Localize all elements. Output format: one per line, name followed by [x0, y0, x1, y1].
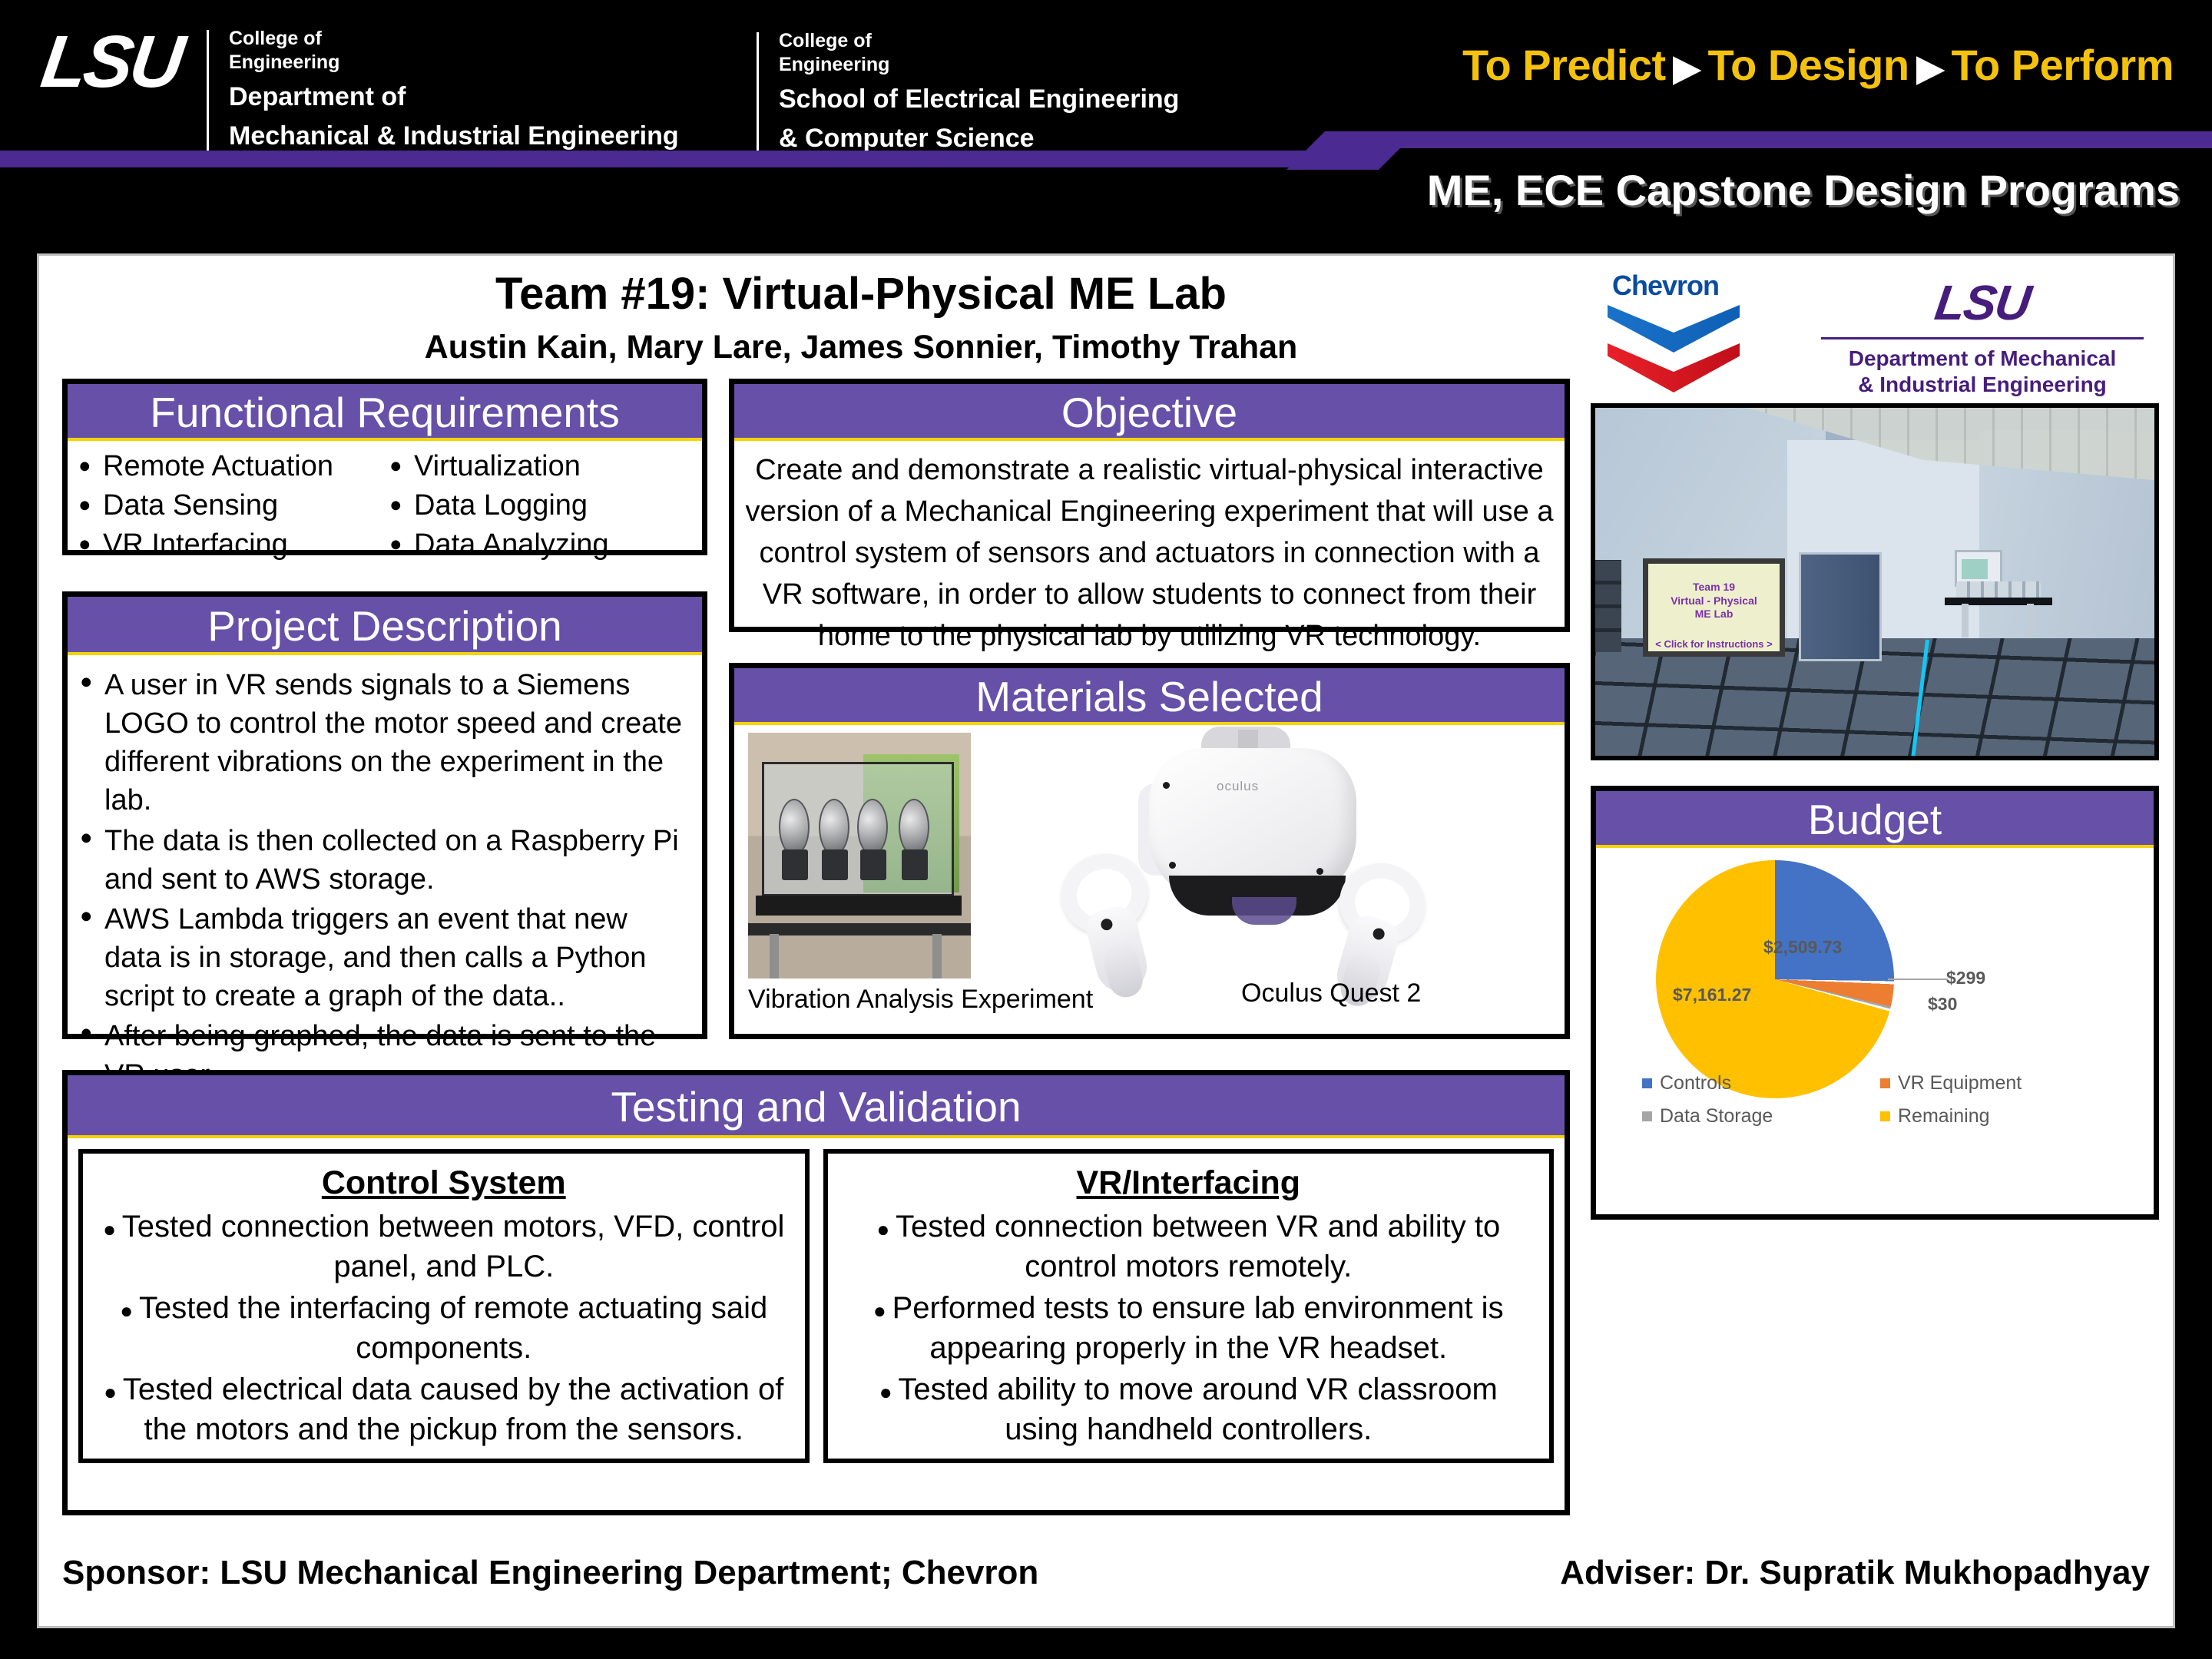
capstone-program-title: ME, ECE Capstone Design Programs — [1427, 165, 2180, 215]
oculus-quest-2-image: oculus — [1026, 725, 1456, 986]
poster-root: LSU College of Engineering Department of… — [0, 0, 2212, 1659]
materials-images-row: oculus — [734, 725, 1565, 1040]
legend-swatch-vr-equipment — [1880, 1078, 1890, 1088]
legend-swatch-controls — [1642, 1078, 1652, 1088]
pie-label-vr-equipment: $299 — [1946, 968, 1985, 988]
list-item: The data is then collected on a Raspberr… — [75, 822, 691, 899]
vibration-experiment-photo — [748, 733, 971, 979]
project-description-list: A user in VR sends signals to a Siemens … — [68, 655, 702, 1094]
budget-box: Budget $2,509.73 $7,161.27 $299 $30 Cont… — [1591, 786, 2159, 1220]
list-item: Tested ability to move around VR classro… — [840, 1369, 1538, 1449]
ece-college-line2: Engineering — [779, 53, 1179, 77]
author-list: Austin Kain, Mary Lare, James Sonnier, T… — [131, 329, 1591, 366]
vr-bench-leg — [2027, 604, 2034, 637]
chevron-logo: Chevron — [1604, 270, 1743, 392]
me-college-line2: Engineering — [229, 51, 679, 75]
ece-college-text: College of Engineering School of Electri… — [779, 29, 1179, 155]
rotor-disc — [899, 799, 929, 856]
objective-text: Create and demonstrate a realistic virtu… — [734, 441, 1565, 657]
functional-requirements-left-list: Remote Actuation Data Sensing VR Interfa… — [74, 450, 385, 568]
legend-item-vr-equipment: VR Equipment — [1880, 1072, 2118, 1094]
materials-selected-box: Materials Selected — [729, 663, 1570, 1039]
list-item: Data Sensing — [74, 489, 385, 522]
list-item: AWS Lambda triggers an event that new da… — [75, 900, 691, 1015]
ece-divider-rule — [757, 32, 759, 155]
objective-box: Objective Create and demonstrate a reali… — [729, 379, 1570, 632]
vr-control-panel-screen — [1962, 559, 1988, 579]
headset-camera-icon — [1163, 782, 1170, 789]
lsu-logo-rule — [1821, 337, 2144, 339]
lsu-ece-logo-lockup: College of Engineering School of Electri… — [757, 29, 1179, 155]
legend-swatch-remaining — [1880, 1111, 1890, 1121]
vr-screen-title: Team 19 Virtual - Physical ME Lab — [1648, 581, 1780, 621]
functional-requirements-columns: Remote Actuation Data Sensing VR Interfa… — [68, 441, 702, 568]
legend-item-controls: Controls — [1642, 1072, 1880, 1094]
bearing-block — [860, 849, 886, 880]
chevron-blue-chevron-icon — [1608, 305, 1740, 353]
ece-dept-line1: School of Electrical Engineering — [779, 84, 1179, 115]
rotor-disc — [819, 799, 849, 856]
rotor-disc — [857, 799, 888, 856]
vr-interfacing-list: Tested connection between VR and ability… — [840, 1207, 1538, 1449]
budget-heading: Budget — [1596, 791, 2154, 848]
vr-bench-top — [1945, 598, 2052, 605]
legend-swatch-data-storage — [1642, 1111, 1652, 1121]
vr-shelf — [1595, 560, 1621, 652]
list-item: Virtualization — [385, 450, 696, 483]
pie-label-controls: $2,509.73 — [1763, 937, 1842, 958]
bench-leg — [770, 934, 779, 979]
bench-leg — [932, 934, 942, 979]
me-dept-line1: Department of — [229, 81, 679, 113]
list-item: VR Interfacing — [74, 528, 385, 561]
lsu-purple-wordmark: LSU — [1932, 274, 2033, 331]
lsu-dept-line2: & Industrial Engineering — [1821, 372, 2144, 398]
pie-chart-graphic — [1656, 860, 1894, 1098]
list-item: Tested connection between motors, VFD, c… — [95, 1207, 793, 1286]
legend-label-data-storage: Data Storage — [1660, 1105, 1773, 1128]
budget-pie-chart: $2,509.73 $7,161.27 $299 $30 Controls VR… — [1596, 848, 2154, 1124]
list-item: Tested connection between VR and ability… — [840, 1207, 1538, 1286]
vr-lab-screenshot: Team 19 Virtual - Physical ME Lab < Clic… — [1591, 403, 2159, 760]
me-dept-line2: Mechanical & Industrial Engineering — [229, 121, 679, 152]
legend-label-vr-equipment: VR Equipment — [1898, 1072, 2022, 1094]
sponsor-logos: Chevron LSU Department of Mechanical & I… — [1591, 263, 2159, 398]
headset-camera-icon — [1169, 862, 1176, 869]
vr-prev-arrow-icon[interactable]: < — [1655, 638, 1661, 650]
legend-item-remaining: Remaining — [1880, 1105, 2118, 1128]
caption-oculus-quest: Oculus Quest 2 — [1241, 979, 1421, 1008]
vr-screen-line2: Virtual - Physical — [1648, 594, 1780, 608]
functional-requirements-heading: Functional Requirements — [68, 384, 702, 441]
logo-divider-rule — [207, 30, 209, 153]
objective-heading: Objective — [734, 384, 1565, 441]
legend-label-controls: Controls — [1660, 1072, 1731, 1094]
sponsor-footer: Sponsor: LSU Mechanical Engineering Depa… — [62, 1554, 1038, 1592]
vr-bench-leg — [1962, 604, 1969, 637]
list-item: Data Analyzing — [385, 528, 696, 561]
poster-body-panel: Team #19: Virtual-Physical ME Lab Austin… — [37, 253, 2175, 1628]
list-item: Performed tests to ensure lab environmen… — [840, 1288, 1538, 1368]
materials-selected-heading: Materials Selected — [734, 668, 1565, 725]
headset-camera-icon — [1316, 868, 1323, 875]
oculus-brand-label: oculus — [1217, 779, 1259, 794]
lsu-dept-line1: Department of Mechanical — [1821, 346, 2144, 372]
headset-nosepad — [1232, 897, 1296, 925]
control-system-subbox: Control System Tested connection between… — [78, 1149, 810, 1463]
accent-bar-left — [0, 151, 1340, 167]
accent-bar-right — [1352, 131, 2212, 148]
base-rail — [756, 896, 962, 916]
vr-instructions-label[interactable]: Click for Instructions — [1664, 638, 1763, 650]
tagline-design: To Design — [1708, 41, 1909, 89]
caption-vibration-experiment: Vibration Analysis Experiment — [748, 985, 1093, 1015]
vr-door — [1799, 552, 1882, 661]
me-college-line1: College of — [229, 27, 679, 51]
page-title: Team #19: Virtual-Physical ME Lab — [131, 268, 1591, 320]
vr-screen-line3: ME Lab — [1648, 608, 1780, 621]
list-item: A user in VR sends signals to a Siemens … — [75, 666, 691, 820]
program-tagline: To Predict▶To Design▶To Perform — [1462, 40, 2174, 90]
project-description-box: Project Description A user in VR sends s… — [62, 591, 707, 1039]
functional-requirements-right-list: Virtualization Data Logging Data Analyzi… — [385, 450, 696, 568]
lsu-me-logo-lockup: LSU College of Engineering Department of… — [42, 27, 679, 153]
legend-label-remaining: Remaining — [1898, 1105, 1990, 1128]
tagline-arrow-1-icon: ▶ — [1666, 48, 1708, 88]
me-college-text: College of Engineering Department of Mec… — [229, 27, 679, 153]
testing-validation-heading: Testing and Validation — [68, 1075, 1565, 1138]
control-system-list: Tested connection between motors, VFD, c… — [95, 1207, 793, 1449]
pie-label-data-storage: $30 — [1928, 994, 1957, 1015]
list-item: Data Logging — [385, 489, 696, 522]
vr-interfacing-heading: VR/Interfacing — [840, 1164, 1538, 1202]
testing-validation-box: Testing and Validation Control System Te… — [62, 1070, 1570, 1515]
list-item: Tested electrical data caused by the act… — [95, 1369, 793, 1449]
list-item: Remote Actuation — [74, 450, 385, 483]
vr-screen-instructions-row[interactable]: < Click for Instructions > — [1648, 638, 1780, 650]
lsu-department-logo: LSU Department of Mechanical & Industria… — [1821, 274, 2144, 397]
tagline-predict: To Predict — [1462, 41, 1666, 89]
project-description-heading: Project Description — [68, 597, 702, 655]
adviser-footer: Adviser: Dr. Supratik Mukhopadhyay — [1560, 1554, 2150, 1592]
legend-item-data-storage: Data Storage — [1642, 1105, 1880, 1128]
bearing-block — [902, 849, 928, 880]
lsu-wordmark: LSU — [38, 27, 186, 97]
ece-college-line1: College of — [779, 29, 1179, 53]
pie-label-remaining: $7,161.27 — [1673, 985, 1751, 1005]
testing-validation-columns: Control System Tested connection between… — [68, 1138, 1565, 1474]
vr-next-arrow-icon[interactable]: > — [1767, 638, 1773, 650]
bearing-block — [822, 849, 848, 880]
vr-presentation-screen[interactable]: Team 19 Virtual - Physical ME Lab < Clic… — [1643, 558, 1785, 657]
rotor-disc — [779, 799, 810, 856]
pie-chart-legend: Controls VR Equipment Data Storage Remai… — [1642, 1072, 2118, 1128]
control-system-heading: Control System — [95, 1164, 793, 1202]
tagline-arrow-2-icon: ▶ — [1909, 48, 1952, 88]
tagline-perform: To Perform — [1951, 41, 2174, 89]
bearing-block — [782, 849, 808, 880]
pie-leader-line — [1888, 979, 1948, 980]
list-item: Tested the interfacing of remote actuati… — [95, 1288, 793, 1368]
poster-header: LSU College of Engineering Department of… — [0, 0, 2212, 253]
vr-interfacing-subbox: VR/Interfacing Tested connection between… — [823, 1149, 1555, 1463]
chevron-wordmark: Chevron — [1612, 270, 1719, 302]
vr-screen-line1: Team 19 — [1648, 581, 1780, 594]
functional-requirements-box: Functional Requirements Remote Actuation… — [62, 379, 707, 555]
